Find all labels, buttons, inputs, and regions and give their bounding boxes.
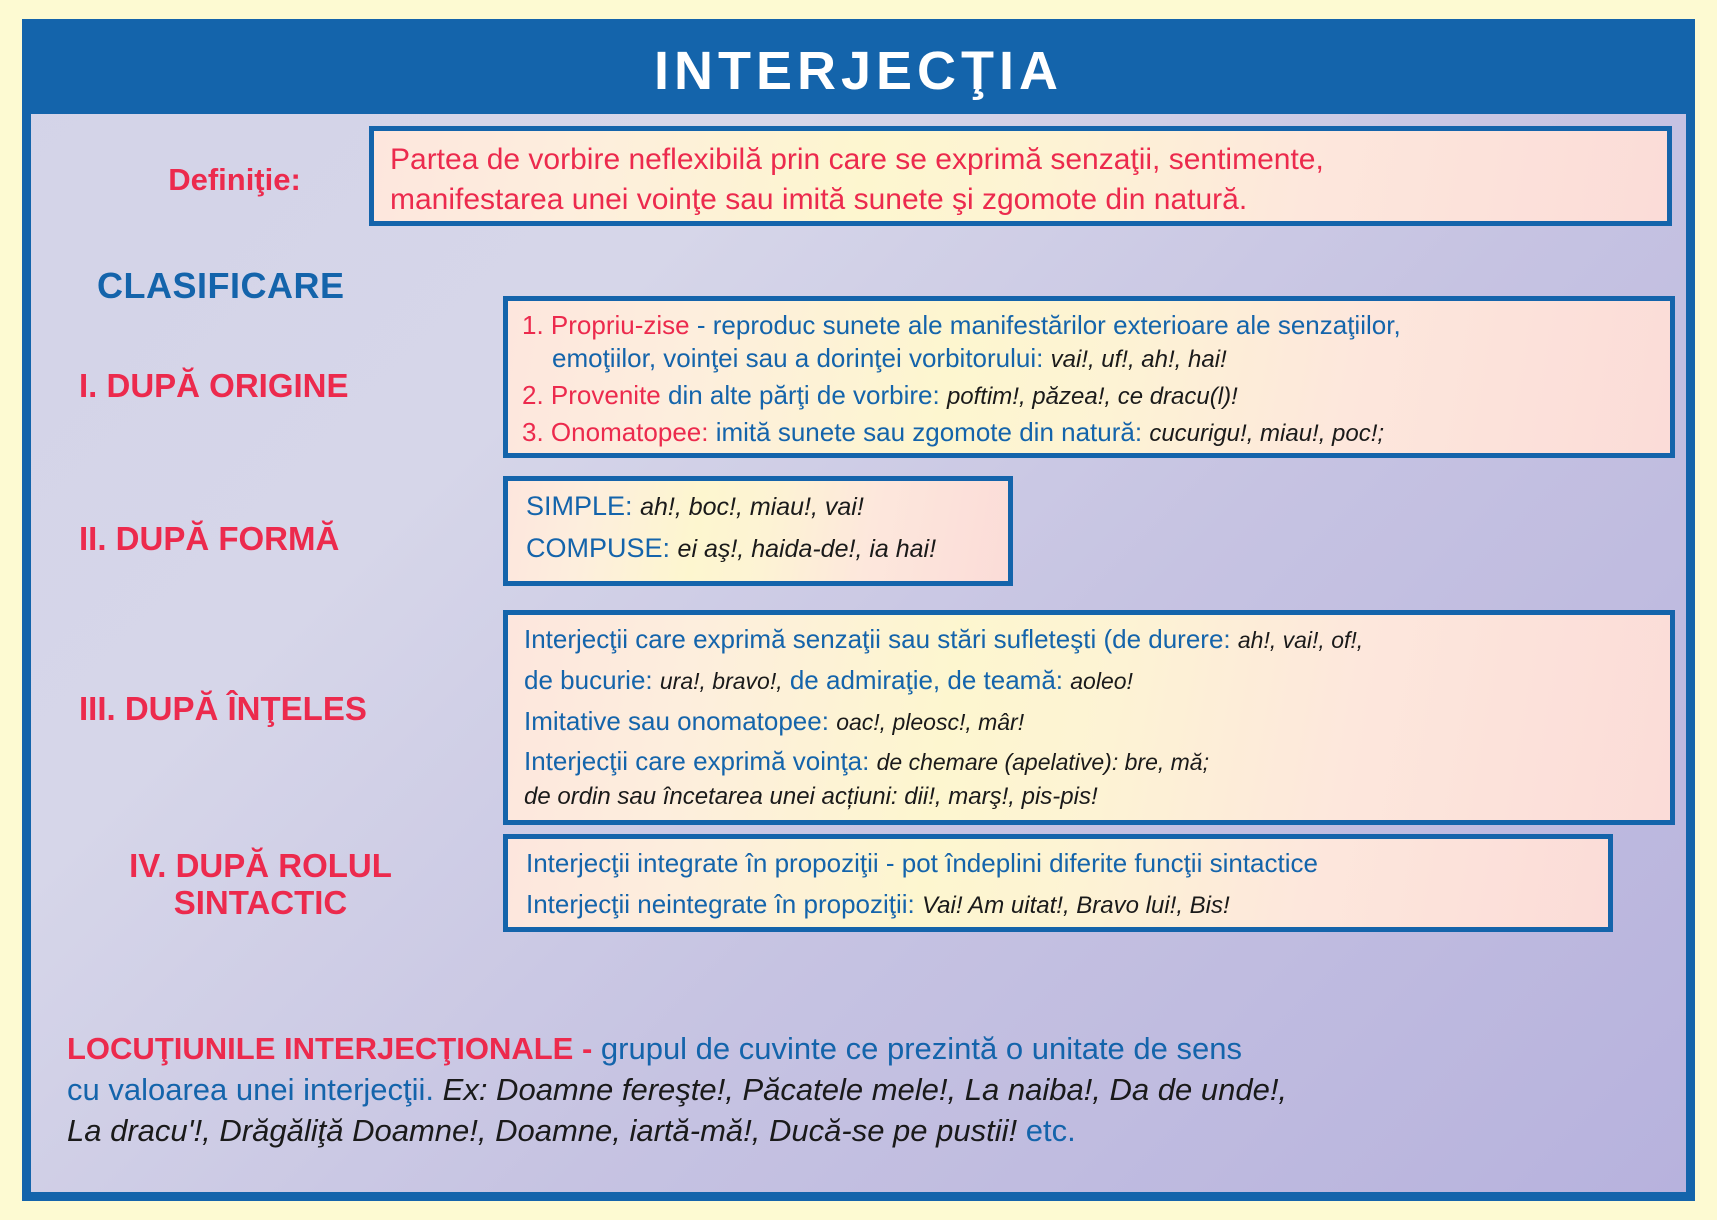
forma-row-simple: SIMPLE: ah!, boc!, miau!, vai! xyxy=(526,490,994,523)
origine-item-2: 2. Provenite din alte părţi de vorbire: … xyxy=(522,379,1656,413)
locutiuni-block: LOCUŢIUNILE INTERJECŢIONALE - grupul de … xyxy=(67,1028,1667,1152)
forma-row-simple-examples: ah!, boc!, miau!, vai! xyxy=(640,493,864,521)
forma-row-simple-term: SIMPLE: xyxy=(526,491,633,521)
locutiuni-line-2-examples: Ex: Doamne fereşte!, Păcatele mele!, La … xyxy=(434,1072,1287,1107)
section-label-rol-sintactic-line2: SINTACTIC xyxy=(174,884,348,921)
inteles-row-2: de bucurie: ura!, bravo!, de admiraţie, … xyxy=(524,664,1656,698)
locutiuni-line-3: La dracu'!, Drăgăliţă Doamne!, Doamne, i… xyxy=(67,1110,1667,1151)
inteles-row-4-examples: de chemare (apelative): bre, mă; xyxy=(877,749,1209,775)
inteles-row-2-examples: ura!, bravo!, xyxy=(660,668,783,694)
inteles-row-5: de ordin sau încetarea unei acțiuni: dii… xyxy=(524,781,1656,812)
origine-item-3-number: 3. xyxy=(522,417,544,447)
section-box-dupa-forma: SIMPLE: ah!, boc!, miau!, vai! COMPUSE: … xyxy=(503,476,1013,586)
definition-box: Partea de vorbire neflexibilă prin care … xyxy=(369,126,1672,226)
locutiuni-line-3-examples: La dracu'!, Drăgăliţă Doamne!, Doamne, i… xyxy=(67,1113,1017,1148)
origine-item-1-text: - reproduc sunete ale manifestărilor ext… xyxy=(690,310,1401,340)
inteles-row-4-text: Interjecţii care exprimă voinţa: xyxy=(524,746,869,776)
origine-item-2-number: 2. xyxy=(522,380,544,410)
forma-row-compuse-term: COMPUSE: xyxy=(526,533,670,563)
sintactic-row-2-text: Interjecţii neintegrate în propoziţii: xyxy=(526,889,915,919)
locutiuni-line-2: cu valoarea unei interjecţii. Ex: Doamne… xyxy=(67,1069,1667,1110)
inteles-row-1: Interjecţii care exprimă senzaţii sau st… xyxy=(524,623,1656,657)
section-label-dupa-origine: I. DUPĂ ORIGINE xyxy=(79,368,349,405)
locutiuni-line-2-start: cu valoarea unei interjecţii. xyxy=(67,1072,434,1107)
locutiuni-line-1: LOCUŢIUNILE INTERJECŢIONALE - grupul de … xyxy=(67,1028,1667,1069)
origine-item-3-text: imită sunete sau zgomote din natură: xyxy=(708,417,1142,447)
origine-item-1-number: 1. xyxy=(522,310,544,340)
poster-title-bar: INTERJECŢIA xyxy=(31,28,1686,114)
section-label-dupa-inteles: III. DUPĂ ÎNŢELES xyxy=(79,691,367,728)
forma-row-compuse: COMPUSE: ei aş!, haida-de!, ia hai! xyxy=(526,532,994,565)
sintactic-row-2-examples: Vai! Am uitat!, Bravo lui!, Bis! xyxy=(922,892,1230,919)
origine-item-1-continuation: emoţiilor, voinţei sau a dorinţei vorbit… xyxy=(552,343,1043,373)
definition-line-1: Partea de vorbire neflexibilă prin care … xyxy=(390,140,1651,180)
origine-item-2-text: din alte părţi de vorbire: xyxy=(661,380,940,410)
classification-heading: CLASIFICARE xyxy=(97,266,345,306)
section-box-dupa-inteles: Interjecţii care exprimă senzaţii sau st… xyxy=(503,610,1675,825)
origine-item-1: 1. Propriu-zise - reproduc sunete ale ma… xyxy=(522,309,1656,376)
definition-label: Definiţie: xyxy=(127,162,342,198)
inteles-row-3-text: Imitative sau onomatopee: xyxy=(524,706,829,736)
section-label-rol-sintactic: IV. DUPĂ ROLUL SINTACTIC xyxy=(73,848,448,922)
section-label-dupa-forma: II. DUPĂ FORMĂ xyxy=(79,521,339,558)
origine-item-3-keyword: Onomatopee: xyxy=(551,417,709,447)
origine-item-1-keyword: Propriu-zise xyxy=(551,310,690,340)
origine-item-3-examples: cucurigu!, miau!, poc!; xyxy=(1149,420,1384,447)
locutiuni-line-3-etc: etc. xyxy=(1017,1113,1076,1148)
page-title: INTERJECŢIA xyxy=(654,44,1063,98)
inteles-row-3: Imitative sau onomatopee: oac!, pleosc!,… xyxy=(524,705,1656,739)
inteles-row-1-examples: ah!, vai!, of!, xyxy=(1238,627,1363,653)
sintactic-row-2: Interjecţii neintegrate în propoziţii: V… xyxy=(526,888,1594,921)
inteles-row-3-examples: oac!, pleosc!, mâr! xyxy=(836,709,1024,735)
section-box-rol-sintactic: Interjecţii integrate în propoziţii - po… xyxy=(503,834,1613,932)
sintactic-row-1: Interjecţii integrate în propoziţii - po… xyxy=(526,847,1594,879)
locutiuni-title: LOCUŢIUNILE INTERJECŢIONALE - xyxy=(67,1031,592,1066)
inteles-row-1-text: Interjecţii care exprimă senzaţii sau st… xyxy=(524,624,1231,654)
poster-frame: INTERJECŢIA Definiţie: Partea de vorbire… xyxy=(22,19,1695,1201)
origine-item-1-continuation-wrap: emoţiilor, voinţei sau a dorinţei vorbit… xyxy=(522,342,1656,376)
inteles-row-4: Interjecţii care exprimă voinţa: de chem… xyxy=(524,745,1656,779)
forma-row-compuse-examples: ei aş!, haida-de!, ia hai! xyxy=(678,535,937,563)
inteles-row-2-text: de bucurie: xyxy=(524,665,653,695)
origine-item-2-examples: poftim!, păzea!, ce dracu(l)! xyxy=(947,383,1238,410)
section-label-rol-sintactic-line1: IV. DUPĂ ROLUL xyxy=(129,847,392,884)
origine-item-3: 3. Onomatopee: imită sunete sau zgomote … xyxy=(522,416,1656,450)
inteles-row-2-text-after: de admiraţie, de teamă: xyxy=(783,665,1063,695)
sintactic-row-1-text: Interjecţii integrate în propoziţii - po… xyxy=(526,848,1318,878)
section-box-dupa-origine: 1. Propriu-zise - reproduc sunete ale ma… xyxy=(503,296,1675,458)
locutiuni-line-1-rest: grupul de cuvinte ce prezintă o unitate … xyxy=(592,1031,1242,1066)
origine-item-1-examples: vai!, uf!, ah!, hai! xyxy=(1051,346,1227,373)
origine-item-2-keyword: Provenite xyxy=(551,380,661,410)
definition-line-2: manifestarea unei voinţe sau imită sunet… xyxy=(390,180,1651,220)
inteles-row-2-examples-after: aoleo! xyxy=(1070,668,1133,694)
